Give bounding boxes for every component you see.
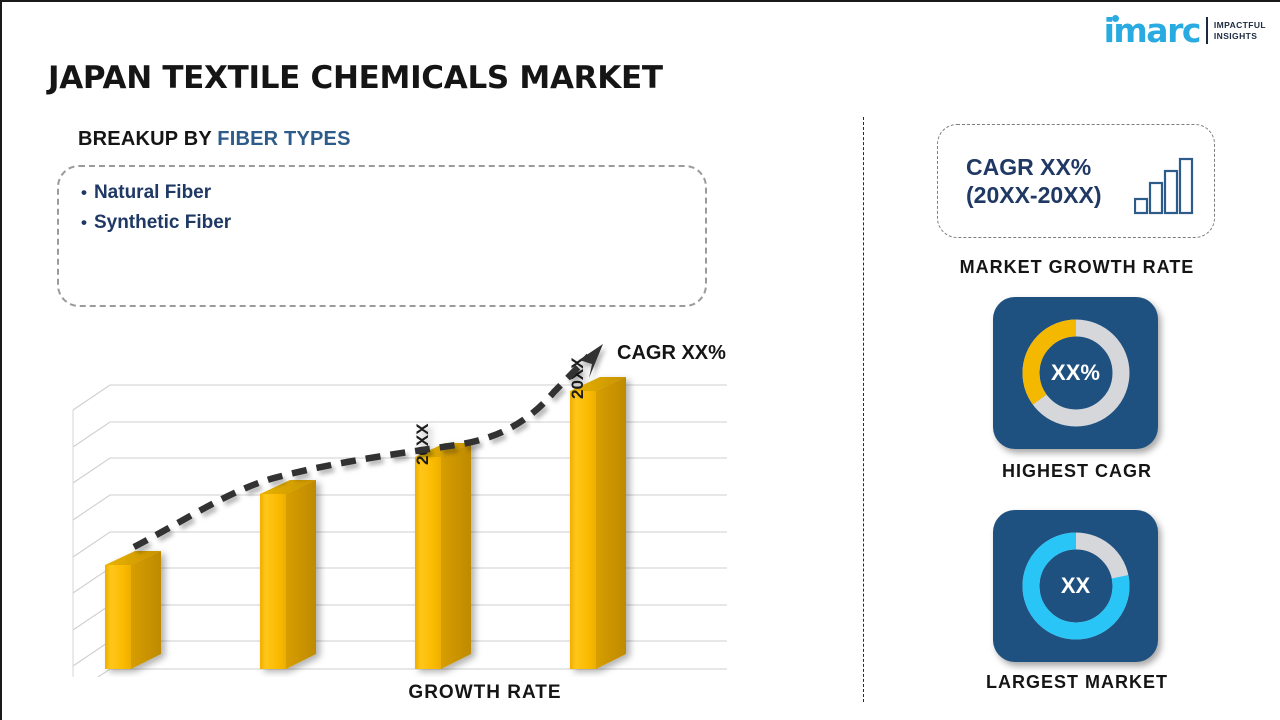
logo-tagline-line2: INSIGHTS — [1214, 31, 1266, 42]
section-subtitle: BREAKUP BY FIBER TYPES — [78, 128, 351, 151]
logo-tagline: IMPACTFUL INSIGHTS — [1214, 20, 1266, 41]
donut-chart-highest-cagr — [1014, 311, 1138, 435]
largest-market-card: XX — [993, 510, 1158, 662]
growth-box-line1: CAGR XX% — [966, 153, 1102, 181]
bar-2 — [260, 480, 316, 669]
logo-tagline-line1: IMPACTFUL — [1214, 20, 1266, 31]
growth-box-line2: (20XX-20XX) — [966, 181, 1102, 209]
bar-chart-icon — [1134, 157, 1196, 215]
market-growth-rate-box: CAGR XX% (20XX-20XX) — [937, 124, 1215, 238]
subtitle-accent: FIBER TYPES — [217, 128, 350, 150]
logo-dot-icon — [1112, 15, 1119, 22]
caption-largest-market: LARGEST MARKET — [932, 672, 1222, 693]
page-title: JAPAN TEXTILE CHEMICALS MARKET — [48, 60, 663, 96]
list-item: Synthetic Fiber — [81, 208, 231, 238]
fiber-types-box: Natural Fiber Synthetic Fiber — [57, 165, 707, 307]
trend-line — [134, 344, 603, 547]
chart-svg: 20XX 20XX — [62, 332, 762, 677]
imarc-logo: imarc IMPACTFUL INSIGHTS — [1104, 14, 1266, 47]
infographic-page: imarc IMPACTFUL INSIGHTS JAPAN TEXTILE C… — [0, 0, 1280, 720]
chart-gridlines — [73, 385, 727, 677]
donut-chart-largest-market — [1014, 524, 1138, 648]
chart-cagr-label: CAGR XX% — [617, 342, 726, 365]
panel-divider — [863, 117, 864, 702]
highest-cagr-card: XX% — [993, 297, 1158, 449]
chart-x-axis-label: GROWTH RATE — [345, 682, 625, 704]
caption-market-growth-rate: MARKET GROWTH RATE — [932, 257, 1222, 278]
subtitle-prefix: BREAKUP BY — [78, 128, 217, 150]
fiber-types-list: Natural Fiber Synthetic Fiber — [81, 178, 231, 238]
bar-4: 20XX — [568, 357, 626, 669]
list-item: Natural Fiber — [81, 178, 231, 208]
bar-3: 20XX — [413, 423, 471, 669]
growth-box-text: CAGR XX% (20XX-20XX) — [966, 153, 1102, 209]
bar-3-label: 20XX — [413, 423, 432, 465]
caption-highest-cagr: HIGHEST CAGR — [932, 461, 1222, 482]
bar-1 — [105, 551, 161, 669]
logo-divider — [1206, 17, 1208, 44]
growth-rate-chart: 20XX 20XX CAGR XX% GROWTH RATE — [62, 332, 762, 720]
